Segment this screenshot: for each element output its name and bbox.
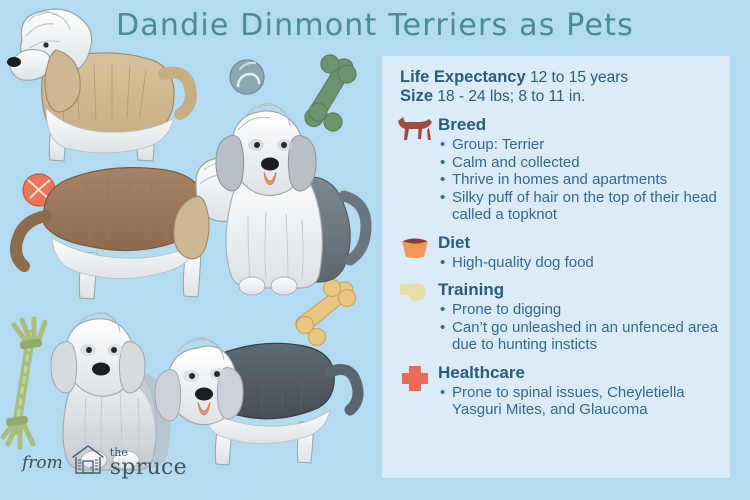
info-panel: Life Expectancy 12 to 15 years Size 18 -…: [382, 56, 730, 478]
stat-life-expectancy-label: Life Expectancy: [400, 68, 526, 86]
section-diet-title: Diet: [438, 233, 720, 253]
house-icon: [71, 444, 105, 481]
stat-life-expectancy-value: 12 to 15 years: [530, 69, 628, 86]
list-item: Can’t go unleashed in an unfenced area d…: [438, 319, 720, 354]
section-diet-bullets: High-quality dog food: [438, 254, 720, 272]
list-item: Prone to digging: [438, 301, 720, 319]
list-item: Thrive in homes and apartments: [438, 171, 720, 189]
green-rope-toy: [3, 319, 45, 447]
list-item: Calm and collected: [438, 154, 720, 172]
section-healthcare-bullets: Prone to spinal issues, Cheyletiella Yas…: [438, 384, 720, 419]
brand-logo: from the spruce: [22, 444, 187, 481]
list-item: Group: Terrier: [438, 136, 720, 154]
green-bone-toy: [305, 55, 356, 131]
logo-from-text: from: [22, 453, 63, 473]
section-breed: Breed Group: Terrier Calm and collected …: [392, 115, 720, 224]
list-item: High-quality dog food: [438, 254, 720, 272]
logo-wordmark: the spruce: [110, 447, 187, 479]
gray-swirl-ball-toy: [230, 60, 264, 94]
red-ball-toy: [237, 260, 269, 292]
section-healthcare: Healthcare Prone to spinal issues, Cheyl…: [392, 363, 720, 419]
section-training: Training Prone to digging Can’t go unlea…: [392, 280, 720, 354]
list-item: Silky puff of hair on the top of their h…: [438, 189, 720, 224]
stat-life-expectancy: Life Expectancy 12 to 15 years: [392, 68, 720, 87]
stat-size-value: 18 - 24 lbs; 8 to 11 in.: [437, 88, 585, 105]
section-training-title: Training: [438, 280, 720, 300]
list-item: Prone to spinal issues, Cheyletiella Yas…: [438, 384, 720, 419]
page-title: Dandie Dinmont Terriers as Pets: [0, 8, 750, 43]
section-diet: Diet High-quality dog food: [392, 233, 720, 272]
orange-ball-toy: [23, 174, 55, 206]
gray-white-sitting-dog: [216, 104, 366, 295]
stat-size: Size 18 - 24 lbs; 8 to 11 in.: [392, 87, 720, 106]
section-training-bullets: Prone to digging Can’t go unleashed in a…: [438, 301, 720, 354]
whistle-icon: [396, 281, 434, 311]
dog-icon: [396, 116, 434, 146]
section-breed-bullets: Group: Terrier Calm and collected Thrive…: [438, 136, 720, 224]
food-bowl-icon: [396, 234, 434, 264]
logo-spruce-text: spruce: [110, 457, 187, 479]
section-healthcare-title: Healthcare: [438, 363, 720, 383]
medical-cross-icon: [396, 364, 434, 394]
section-breed-title: Breed: [438, 115, 720, 135]
brown-white-standing-dog: [16, 157, 275, 299]
stat-size-label: Size: [400, 87, 433, 105]
yellow-bone-toy: [296, 280, 356, 346]
